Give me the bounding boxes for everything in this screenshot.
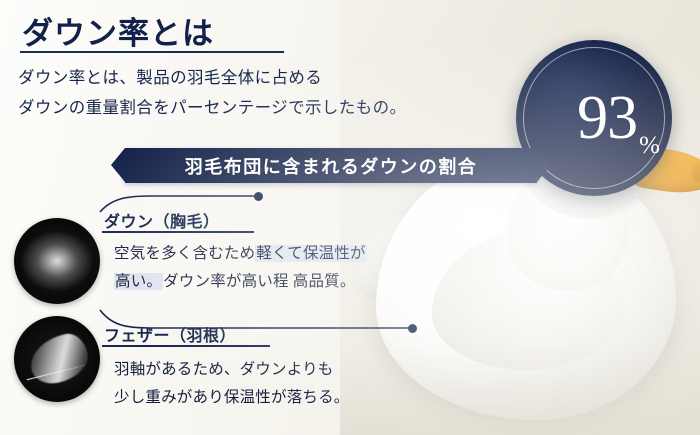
connector-dot-feather bbox=[408, 324, 417, 333]
ribbon-banner: 羽毛布団に含まれるダウンの割合 bbox=[125, 148, 537, 183]
item-label-down: ダウン（胸毛） bbox=[104, 208, 220, 232]
item-label-feather: フェザー（羽根） bbox=[104, 322, 236, 346]
title-divider bbox=[20, 51, 284, 53]
feather-icon bbox=[26, 330, 92, 387]
down-line1-pre: 空気を多く含むため bbox=[114, 245, 255, 262]
lede-paragraph: ダウン率とは、製品の羽毛全体に占める ダウンの重量割合をパーセンテージで示したも… bbox=[18, 63, 406, 123]
item-text-feather-line-2: 少し重みがあり保温性が落ちる。 bbox=[114, 384, 350, 412]
item-underline-feather bbox=[102, 345, 270, 347]
down-line2-highlight: 高い。 bbox=[114, 273, 163, 290]
infographic-page: ダウン率とは ダウン率とは、製品の羽毛全体に占める ダウンの重量割合をパーセンテ… bbox=[0, 0, 700, 435]
badge-percent-sign: % bbox=[637, 133, 660, 196]
swatch-feather bbox=[14, 316, 100, 402]
item-text-feather-line-1: 羽軸があるため、ダウンよりも bbox=[114, 356, 350, 384]
page-title: ダウン率とは bbox=[22, 8, 214, 53]
connector-dot-down bbox=[254, 192, 263, 201]
item-text-feather: 羽軸があるため、ダウンよりも 少し重みがあり保温性が落ちる。 bbox=[114, 356, 350, 412]
ribbon-title: 羽毛布団に含まれるダウンの割合 bbox=[185, 153, 478, 179]
lede-line-1: ダウン率とは、製品の羽毛全体に占める bbox=[18, 63, 406, 93]
down-line2-post: ダウン率が高い程 高品質。 bbox=[163, 273, 355, 290]
down-cluster-icon bbox=[20, 230, 94, 292]
item-text-down-line-2: 高い。ダウン率が高い程 高品質。 bbox=[114, 268, 367, 296]
swatch-down-cluster bbox=[14, 218, 100, 304]
item-text-down-line-1: 空気を多く含むため軽くて保温性が bbox=[114, 240, 367, 268]
down-line1-highlight: 軽くて保温性が bbox=[255, 245, 366, 262]
item-underline-down bbox=[102, 231, 254, 233]
badge-number: 93 bbox=[577, 87, 637, 149]
item-text-down: 空気を多く含むため軽くて保温性が 高い。ダウン率が高い程 高品質。 bbox=[114, 240, 367, 296]
lede-line-2: ダウンの重量割合をパーセンテージで示したもの。 bbox=[18, 93, 406, 123]
photo-shade bbox=[340, 345, 700, 435]
